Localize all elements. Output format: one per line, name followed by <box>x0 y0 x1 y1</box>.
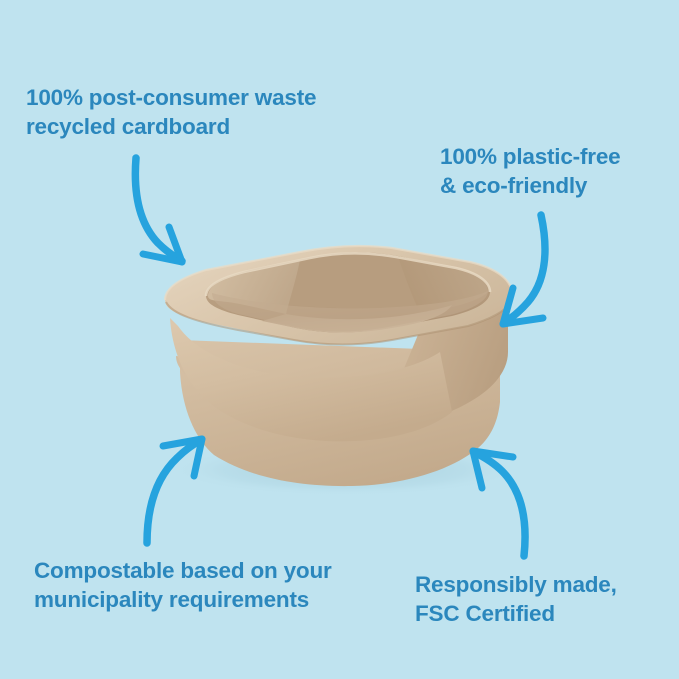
callout-text-top-left: 100% post-consumer waste recycled cardbo… <box>26 83 316 142</box>
infographic-scene: 100% post-consumer waste recycled cardbo… <box>0 0 679 679</box>
tray-texture <box>165 250 515 490</box>
callout-text-top-right: 100% plastic-free & eco-friendly <box>440 142 620 201</box>
callout-text-bottom-left: Compostable based on your municipality r… <box>34 556 332 615</box>
callout-text-bottom-right: Responsibly made, FSC Certified <box>415 570 617 629</box>
